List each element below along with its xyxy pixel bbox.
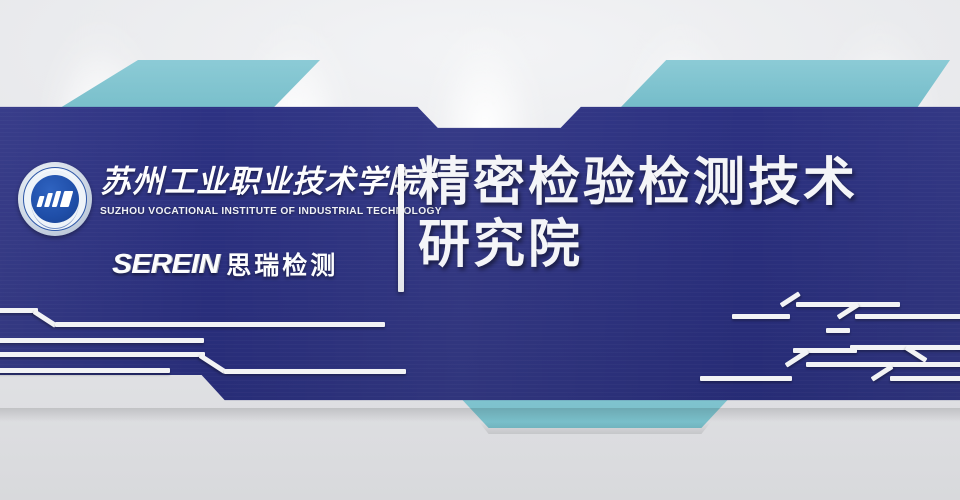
university-name-en: SUZHOU VOCATIONAL INSTITUTE OF INDUSTRIA… xyxy=(100,206,392,218)
circuit-trace-right-5a xyxy=(806,362,960,367)
circuit-trace-left-3c xyxy=(224,369,406,374)
headline-line-1: 精密检验检测技术 xyxy=(418,152,958,214)
teal-trapezoid-top-right xyxy=(620,60,950,108)
circuit-trace-right-2a xyxy=(855,314,960,319)
circuit-trace-right-5c xyxy=(700,376,792,381)
signage-scene: 苏州工业职业技术学院 SUZHOU VOCATIONAL INSTITUTE O… xyxy=(0,0,960,500)
institute-headline: 精密检验检测技术 研究院 xyxy=(418,152,958,276)
headline-line-2: 研究院 xyxy=(418,214,958,276)
university-name-cn: 苏州工业职业技术学院 xyxy=(100,164,392,200)
circuit-trace-right-1a xyxy=(796,302,900,307)
spotlight-cone-3 xyxy=(405,10,565,130)
circuit-trace-right-1c xyxy=(732,314,790,319)
vertical-divider-bar xyxy=(398,164,404,292)
circuit-trace-left-2 xyxy=(0,338,204,343)
institution-logo-block: 苏州工业职业技术学院 SUZHOU VOCATIONAL INSTITUTE O… xyxy=(0,150,400,300)
circuit-trace-left-4 xyxy=(0,368,170,373)
serein-brand-en: SEREIN xyxy=(112,248,219,280)
circuit-trace-right-6a xyxy=(890,376,960,381)
serein-brand-lockup: SEREIN 思瑞检测 xyxy=(112,246,338,282)
circuit-trace-left-1c xyxy=(55,322,385,327)
circuit-trace-left-3a xyxy=(0,352,205,357)
circuit-trace-right-2c xyxy=(826,328,850,333)
serein-brand-cn: 思瑞检测 xyxy=(226,246,338,282)
university-seal-icon xyxy=(18,162,92,236)
